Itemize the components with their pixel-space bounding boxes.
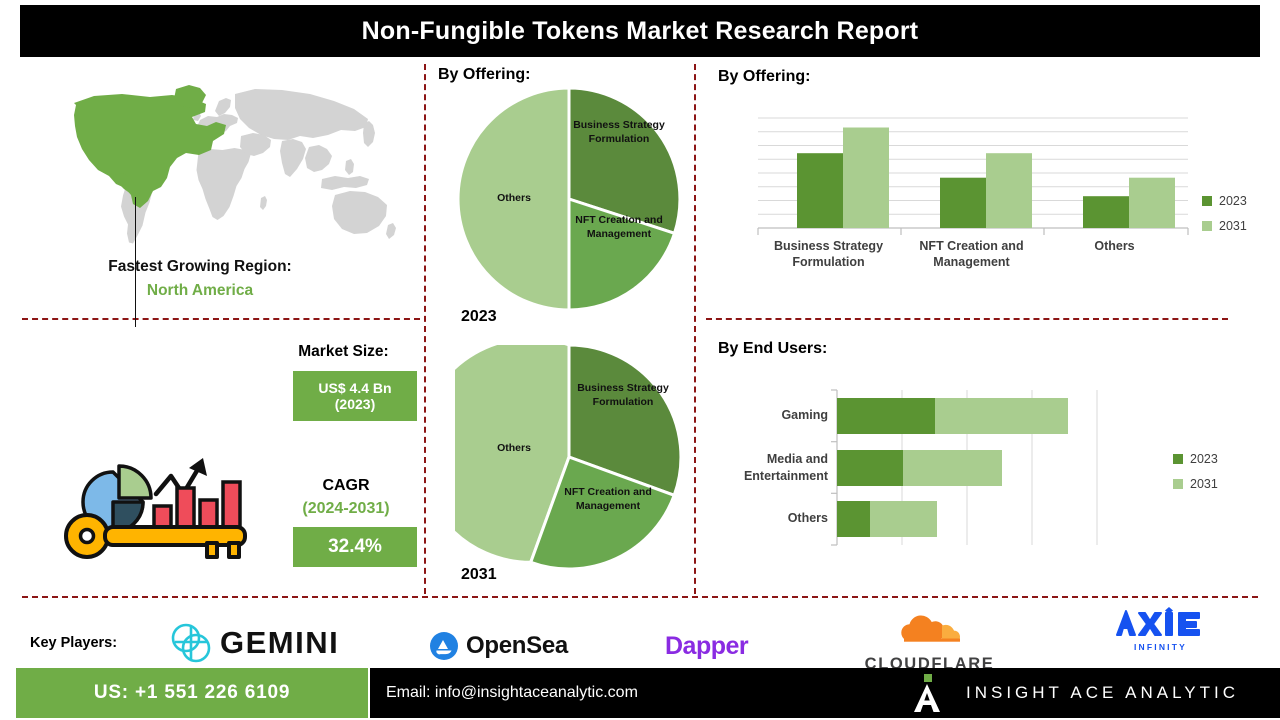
- bar-2023-nft-creation-and-management: [940, 178, 986, 228]
- market-size-value: US$ 4.4 Bn: [318, 380, 391, 396]
- market-size-label: Market Size:: [271, 343, 416, 361]
- legend-label-2023: 2023: [1219, 194, 1247, 208]
- pie-chart-2023: Business Strategy Formulation NFT Creati…: [455, 88, 683, 310]
- stackbar-2031-gaming: [935, 398, 1068, 434]
- divider-vertical-right: [694, 64, 696, 594]
- stackbar-2023-others: [837, 501, 870, 537]
- gemini-logo-text: GEMINI: [220, 625, 339, 661]
- column-chart-xtick-nft-creation-and-management: NFT Creation and Management: [899, 238, 1044, 271]
- legend-swatch-2023: [1202, 196, 1212, 206]
- column-chart-xtick-business-strategy-formulation: Business Strategy Formulation: [756, 238, 901, 271]
- column-chart-xtick-others: Others: [1042, 238, 1187, 254]
- axie-infinity-logo: INFINITY: [1108, 605, 1213, 652]
- stacked-chart-title: By End Users:: [718, 340, 827, 358]
- legend-item-2023: 2023: [1202, 194, 1247, 208]
- legend-label-2023: 2023: [1190, 452, 1218, 466]
- stacked-chart-ytick-others: Others: [718, 510, 828, 527]
- gemini-logo-icon: [170, 622, 212, 664]
- stackbar-2023-gaming: [837, 398, 935, 434]
- stacked-chart-legend: 2023 2031: [1173, 452, 1218, 502]
- cagr-value-box: 32.4%: [293, 527, 417, 567]
- legend-item-2023: 2023: [1173, 452, 1218, 466]
- cagr-label: CAGR: [271, 477, 421, 495]
- bar-2023-others: [1083, 196, 1129, 228]
- report-header-bar: Non-Fungible Tokens Market Research Repo…: [20, 5, 1260, 57]
- column-chart-legend: 2023 2031: [1202, 194, 1247, 244]
- legend-label-2031: 2031: [1190, 477, 1218, 491]
- stackbar-2031-media-and-entertainment: [903, 450, 1002, 486]
- column-chart-by-offering: Business Strategy Formulation NFT Creati…: [740, 110, 1260, 270]
- divider-horizontal-right: [706, 318, 1228, 320]
- gemini-logo: GEMINI: [170, 622, 339, 664]
- key-players-label: Key Players:: [30, 635, 117, 651]
- pie-slice-others: [458, 88, 569, 310]
- opensea-logo-text: OpenSea: [466, 632, 568, 660]
- world-map-icon: [26, 72, 411, 257]
- cagr-value: 32.4%: [328, 536, 382, 558]
- pie-2023-year: 2023: [461, 308, 497, 326]
- legend-swatch-2031: [1173, 479, 1183, 489]
- legend-swatch-2031: [1202, 221, 1212, 231]
- legend-item-2031: 2031: [1202, 219, 1247, 233]
- fastest-growing-region-value: North America: [0, 282, 400, 300]
- dapper-logo: Dapper: [665, 632, 748, 661]
- stacked-chart-ytick-media-and-entertainment: Media and Entertainment: [718, 451, 828, 485]
- fastest-growing-region-label: Fastest Growing Region:: [0, 258, 400, 276]
- divider-horizontal-left: [22, 318, 420, 320]
- page-title: Non-Fungible Tokens Market Research Repo…: [362, 17, 919, 46]
- kpi-panel: Market Size: US$ 4.4 Bn (2023) CAGR (202…: [16, 335, 416, 585]
- email-bar: Email: info@insightaceanalytic.com INSIG…: [370, 668, 1280, 718]
- dapper-logo-text: Dapper: [665, 632, 748, 660]
- market-size-year: (2023): [335, 396, 375, 412]
- axie-infinity-logo-subtext: INFINITY: [1108, 642, 1213, 652]
- pie-chart-2031: Business Strategy Formulation NFT Creati…: [455, 345, 683, 570]
- bar-2031-others: [1129, 178, 1175, 228]
- brand-name: INSIGHT ACE ANALYTIC: [966, 683, 1239, 703]
- bar-2031-business-strategy-formulation: [843, 128, 889, 229]
- stacked-chart-ytick-gaming: Gaming: [718, 407, 828, 424]
- divider-horizontal-bottom: [22, 596, 1258, 598]
- email-address: Email: info@insightaceanalytic.com: [386, 684, 638, 702]
- phone-number: US: +1 551 226 6109: [94, 682, 290, 704]
- pie-2023-title: By Offering:: [438, 66, 530, 84]
- pie-2031-year: 2031: [461, 566, 497, 584]
- stacked-bar-chart-by-end-users: Gaming Media and Entertainment Others 20…: [718, 380, 1263, 570]
- insight-ace-analytic-logo-icon: [910, 673, 944, 713]
- cloudflare-logo-icon: [890, 615, 970, 649]
- opensea-logo-icon: [430, 632, 458, 660]
- opensea-logo: OpenSea: [430, 632, 568, 660]
- brand-lockup: INSIGHT ACE ANALYTIC: [910, 668, 1239, 718]
- stackbar-2031-others: [870, 501, 937, 537]
- divider-vertical-left: [424, 64, 426, 594]
- legend-swatch-2023: [1173, 454, 1183, 464]
- axie-infinity-logo-icon: [1111, 605, 1211, 641]
- legend-label-2031: 2031: [1219, 219, 1247, 233]
- cagr-years: (2024-2031): [271, 500, 421, 518]
- phone-bar: US: +1 551 226 6109: [16, 668, 368, 718]
- market-size-value-box: US$ 4.4 Bn (2023): [293, 371, 417, 421]
- bar-2023-business-strategy-formulation: [797, 153, 843, 228]
- stackbar-2023-media-and-entertainment: [837, 450, 903, 486]
- column-chart-title: By Offering:: [718, 68, 810, 86]
- cloudflare-logo: CLOUDFLARE: [862, 615, 997, 674]
- legend-item-2031: 2031: [1173, 477, 1218, 491]
- pie-chart-bar-growth-key-icon: [61, 410, 261, 560]
- bar-2031-nft-creation-and-management: [986, 153, 1032, 228]
